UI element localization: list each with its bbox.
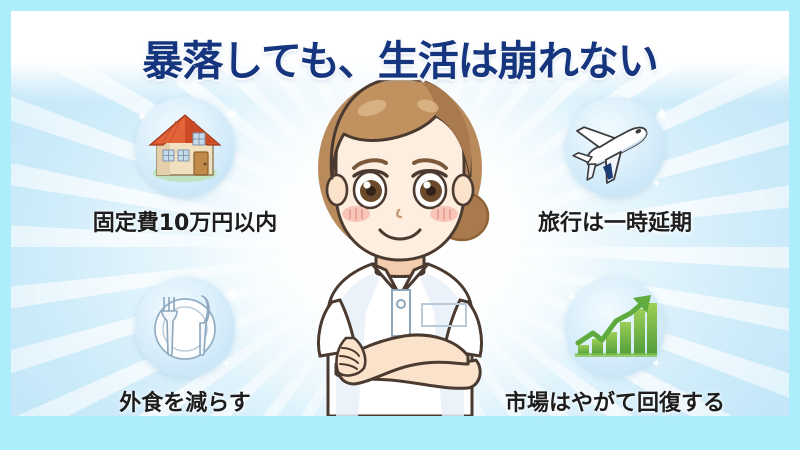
plate-cutlery-icon [142,287,228,367]
infographic-canvas: 暴落しても、生活は崩れない [11,11,789,433]
airplane-icon [571,107,659,187]
house-icon-circle: ✦ ✦ [135,97,235,197]
house-icon [143,109,227,185]
character-illustration [240,64,560,416]
rising-bar-chart-icon [571,289,659,365]
rising-bar-chart-icon-circle: ✦ ✦ [565,277,665,377]
airplane-icon-circle: ✦ ✦ [565,97,665,197]
plate-cutlery-icon-circle: ✦ ✦ [135,277,235,377]
page-title: 暴落しても、生活は崩れない [11,27,789,87]
smiling-woman-arms-crossed-icon [240,64,560,416]
bottom-accent-band [11,416,789,433]
infographic-root: 暴落しても、生活は崩れない [0,0,800,450]
